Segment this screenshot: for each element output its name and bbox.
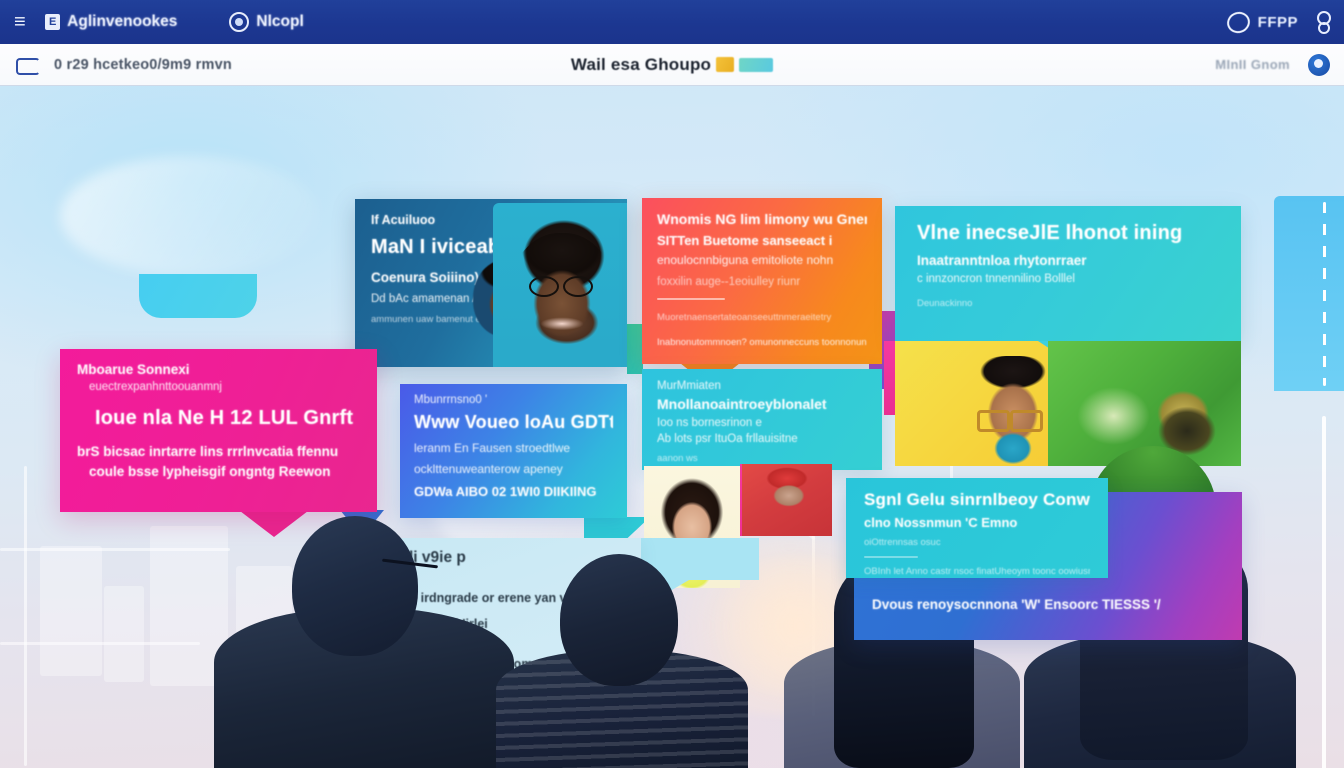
decor-chip-mint xyxy=(627,324,643,374)
back-arrow-icon[interactable] xyxy=(14,55,40,75)
cyan-right-body: c innzoncron tnnennilino Bolllel xyxy=(917,273,1219,285)
account-button[interactable]: FFPP xyxy=(1227,12,1298,33)
person-head xyxy=(292,516,418,656)
bluecyan-eyebrow: Mbunrrnsno0 ' xyxy=(414,394,613,406)
right-blue-panel xyxy=(1274,196,1344,391)
browser-titlebar: ≡ E Aglinvenookes Nlcopl FFPP xyxy=(0,0,1344,44)
copilot-label: Nlcopl xyxy=(256,13,303,31)
glasses-icon xyxy=(977,410,1043,426)
title-decor-teal xyxy=(739,58,773,72)
orange-body-2: Inabnonutommnoen? omunonneccuns toonnonu… xyxy=(657,337,867,348)
page-title-text-a: Wail esa Ghoupo xyxy=(571,55,711,75)
magenta-body-2: coule bsse lypheisgif ongntg Reewon xyxy=(89,464,360,479)
avatar-photo-red-jacket[interactable] xyxy=(742,464,832,536)
bg-hline xyxy=(0,642,200,645)
account-label: FFPP xyxy=(1258,14,1298,31)
bg-building xyxy=(104,586,144,682)
post-card-magenta[interactable]: Mboarue Sonnexi euectrexpanhnttoouanmnj … xyxy=(60,349,377,512)
orange-line-3: enoulocnnbiguna emitoliote nohn xyxy=(657,253,867,267)
magenta-eyebrow-2: euectrexpanhnttoouanmnj xyxy=(89,381,360,393)
pin-icon[interactable] xyxy=(1314,10,1330,34)
cyan-center-body-2: Ab lots psr ItuOa frllauisitne xyxy=(657,433,867,445)
bg-swoosh xyxy=(60,156,320,276)
teal-right-subline: clno Nossnmun 'C Emno xyxy=(864,515,1090,530)
title-decor-yellow xyxy=(716,57,734,72)
glasses-icon xyxy=(529,276,593,293)
copilot-button[interactable]: Nlcopl xyxy=(229,12,303,32)
bluecyan-body-3: GDWa AIBO 02 1WI0 DIIKIlNG xyxy=(414,484,613,499)
cyan-right-subline: Inaatranntnloa rhytonrraer xyxy=(917,253,1219,268)
right-white-rule xyxy=(1322,416,1326,768)
bg-vline xyxy=(24,466,27,766)
post-card-cyan-center[interactable]: MurMmiaten Mnollanoaintroeyblonalet Ioo … xyxy=(642,369,882,470)
bluecyan-body-1: leranm En Fausen stroedtlwe xyxy=(414,441,613,455)
bg-building xyxy=(40,546,102,676)
teal-right-headline: Sgnl Gelu sinrnlbeoy Conwlee Ein xyxy=(864,490,1090,510)
teal-right-divider xyxy=(864,556,918,558)
bg-hline xyxy=(0,548,230,551)
magenta-headline: Ioue nla Ne H 12 LUL Gnrft xyxy=(95,407,360,430)
right-dashed-rule xyxy=(1323,202,1326,386)
post-card-teal-right[interactable]: Sgnl Gelu sinrnlbeoy Conwlee Ein clno No… xyxy=(846,478,1108,578)
bluecyan-body-2: ocklttenuweanterow apeney xyxy=(414,462,613,476)
cyan-right-meta: Deunackinno xyxy=(917,298,1219,309)
magenta-eyebrow-1: Mboarue Sonnexi xyxy=(77,362,360,377)
profile-avatar-icon[interactable] xyxy=(1308,54,1330,76)
post-card-profile[interactable]: If Acuiluoo MaN I iviceab Coenura Soiiin… xyxy=(355,199,627,367)
cyan-center-body-1: Ioo ns bornesrinon e xyxy=(657,417,867,429)
decor-chip-cyan xyxy=(139,274,257,318)
viewer-person-center-left xyxy=(496,554,748,768)
teal-right-body: oiOttrennsas osuc xyxy=(864,537,1090,548)
decor-chip-pink xyxy=(884,341,895,415)
bluecyan-headline: Www Voueo loAu GDTt xyxy=(414,412,613,433)
post-card-orange[interactable]: Wnomis NG lim limony wu Gnene SITTen Bue… xyxy=(642,198,882,364)
cyan-center-eyebrow: MurMmiaten xyxy=(657,380,867,392)
cyan-right-headline: Vlne inecseJlE lhonot ining xyxy=(917,222,1219,245)
hamburger-menu-icon[interactable]: ≡ xyxy=(14,12,25,32)
orange-divider xyxy=(657,298,725,300)
copilot-ring-icon xyxy=(229,12,249,32)
address-bar[interactable]: 0 r29 hcetkeo0/9m9 rmvn xyxy=(54,57,232,73)
orange-line-1: Wnomis NG lim limony wu Gnene xyxy=(657,211,867,227)
browser-toolbar: 0 r29 hcetkeo0/9m9 rmvn Wail esa Ghoupo … xyxy=(0,44,1344,86)
toolbar-muted-label: MInII Gnom xyxy=(1215,57,1290,72)
teal-right-meta: OBInh let Anno castr nsoc finatUheoym to… xyxy=(864,566,1090,577)
blue-right-body: Dvous renoysocnnona 'W' Ensoorc TIESSS '… xyxy=(872,597,1224,612)
post-card-bluecyan[interactable]: Mbunrrnsno0 ' Www Voueo loAu GDTt leranm… xyxy=(400,384,627,518)
orange-line-4: foxxilin auge--1eoiulley riunr xyxy=(657,276,867,288)
orange-line-2: SITTen Buetome sanseeact i xyxy=(657,233,867,248)
hero-illustration: If Acuiluoo MaN I iviceab Coenura Soiiin… xyxy=(0,86,1344,768)
tab-favicon-icon: E xyxy=(45,14,60,30)
person-head xyxy=(560,554,678,686)
post-card-cyan-right[interactable]: Vlne inecseJlE lhonot ining Inaatranntnl… xyxy=(895,206,1241,341)
account-ring-icon xyxy=(1224,8,1252,35)
cyan-center-headline: Mnollanoaintroeyblonalet xyxy=(657,396,867,412)
cyan-center-meta: aanon ws xyxy=(657,453,867,464)
orange-body-1: Muoretnaensertateoanseeuttnmeraeitetry xyxy=(657,312,867,323)
browser-tab[interactable]: E Aglinvenookes xyxy=(35,10,187,34)
profile-portrait-face xyxy=(509,233,615,359)
viewer-person-left xyxy=(214,516,514,768)
page-title: Wail esa Ghoupo xyxy=(571,55,773,75)
magenta-body-1: brS bicsac inrtarre lins rrrlnvcatia ffe… xyxy=(77,444,360,459)
tab-label: Aglinvenookes xyxy=(67,13,177,31)
